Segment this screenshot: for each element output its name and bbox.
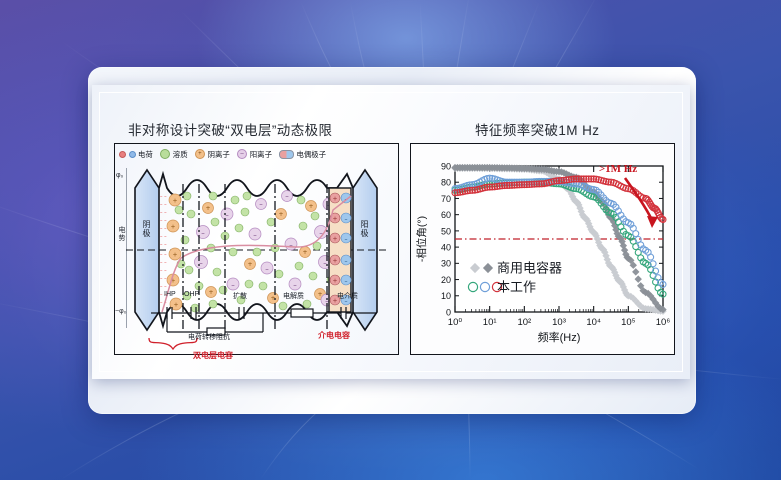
- svg-text:–: –: [285, 193, 289, 201]
- svg-text:+: +: [247, 261, 252, 268]
- svg-text:–: –: [199, 259, 203, 267]
- x-tick-label: 10²: [517, 317, 531, 328]
- svg-text:–: –: [259, 201, 263, 209]
- svg-text:– –: – –: [160, 210, 167, 216]
- svg-text:–: –: [265, 265, 269, 273]
- svg-text:– –: – –: [160, 268, 167, 274]
- svg-text:+: +: [205, 205, 210, 212]
- x-tick-label: 10⁴: [586, 317, 601, 328]
- y-tick-label: 10: [441, 291, 451, 301]
- svg-text:– –: – –: [160, 284, 167, 290]
- svg-text:– –: – –: [160, 234, 167, 240]
- svg-text:–: –: [293, 281, 297, 289]
- left-panel-title: 非对称设计突破“双电层”动态极限: [128, 119, 332, 139]
- svg-text:+: +: [302, 249, 307, 256]
- svg-text:–: –: [289, 241, 293, 249]
- phase-angle-chart: 010203040506070809010⁰10¹10²10³10⁴10⁵10⁶…: [411, 144, 676, 356]
- svg-text:+: +: [332, 236, 337, 243]
- y-tick-label: 60: [441, 210, 451, 220]
- y-tick-label: 40: [441, 243, 451, 253]
- svg-text:–: –: [345, 258, 348, 265]
- svg-text:– –: – –: [160, 226, 167, 232]
- svg-text:+: +: [278, 211, 283, 218]
- x-axis-title: 频率(Hz): [538, 330, 581, 344]
- region-label-ohp: OHP: [184, 291, 199, 298]
- svg-text:+: +: [332, 258, 337, 265]
- x-tick-label: 10¹: [483, 317, 497, 328]
- svg-text:– –: – –: [160, 218, 167, 224]
- svg-text:–: –: [231, 281, 235, 289]
- svg-text:– –: – –: [160, 242, 167, 248]
- edl-capacitance-label: 双电层电容: [193, 350, 233, 361]
- svg-text:+: +: [172, 198, 177, 205]
- dielectric-capacitance-label: 介电电容: [318, 330, 350, 341]
- y-tick-label: 50: [441, 226, 451, 236]
- equivalent-circuit: [115, 302, 400, 354]
- svg-text:– –: – –: [160, 194, 167, 200]
- right-panel-title: 特征频率突破1M Hz: [475, 119, 599, 139]
- charge-transfer-impedance-label: 电荷转移阻抗: [188, 332, 230, 342]
- region-label-diffusion: 扩散: [233, 291, 247, 301]
- x-tick-label: 10⁰: [448, 317, 463, 328]
- screenshot-root: 非对称设计突破“双电层”动态极限 特征频率突破1M Hz 电荷 溶质 + 阴离子…: [0, 0, 781, 480]
- y-tick-label: 20: [441, 275, 451, 285]
- svg-text:+: +: [308, 203, 313, 210]
- svg-text:–: –: [201, 229, 205, 237]
- svg-text:– –: – –: [160, 276, 167, 282]
- y-axis-title: -相位角(°): [415, 216, 428, 262]
- svg-text:+: +: [332, 278, 337, 285]
- svg-text:– –: – –: [160, 260, 167, 266]
- svg-text:+: +: [332, 216, 337, 223]
- svg-text:– –: – –: [160, 252, 167, 258]
- svg-text:– –: – –: [160, 202, 167, 208]
- svg-text:–: –: [345, 278, 348, 285]
- y-tick-label: 90: [441, 161, 451, 171]
- svg-text:+: +: [170, 224, 175, 231]
- x-tick-label: 10⁵: [621, 317, 636, 328]
- phase-angle-chart-panel: 010203040506070809010⁰10¹10²10³10⁴10⁵10⁶…: [410, 143, 675, 355]
- svg-text:–: –: [345, 236, 348, 243]
- svg-text:+: +: [172, 252, 177, 259]
- annotation-label: >1M Hz: [599, 163, 637, 175]
- y-tick-label: 0: [446, 307, 451, 317]
- svg-text:–: –: [253, 231, 257, 239]
- cathode-label: 阴极: [141, 220, 152, 238]
- y-tick-label: 30: [441, 259, 451, 269]
- y-tick-label: 80: [441, 178, 451, 188]
- y-tick-label: 70: [441, 194, 451, 204]
- legend-label-thiswork: 本工作: [497, 280, 536, 295]
- svg-text:–: –: [345, 216, 348, 223]
- region-label-ihp: IHP: [164, 291, 176, 298]
- legend-label-commercial: 商用电容器: [497, 261, 562, 276]
- x-tick-label: 10³: [552, 317, 566, 328]
- svg-text:–: –: [225, 211, 229, 219]
- svg-text:+: +: [332, 196, 337, 203]
- region-label-dielectric: 电介质: [337, 291, 358, 301]
- x-tick-label: 10⁶: [656, 317, 671, 328]
- edl-schematic-panel: 电荷 溶质 + 阴离子 – 阳离子 电偶极子 φ₀ 电势 −φ₀: [114, 143, 399, 355]
- svg-text:+: +: [208, 289, 213, 296]
- region-label-electrolyte: 电解质: [283, 291, 304, 301]
- anode-label: 阳极: [359, 220, 370, 238]
